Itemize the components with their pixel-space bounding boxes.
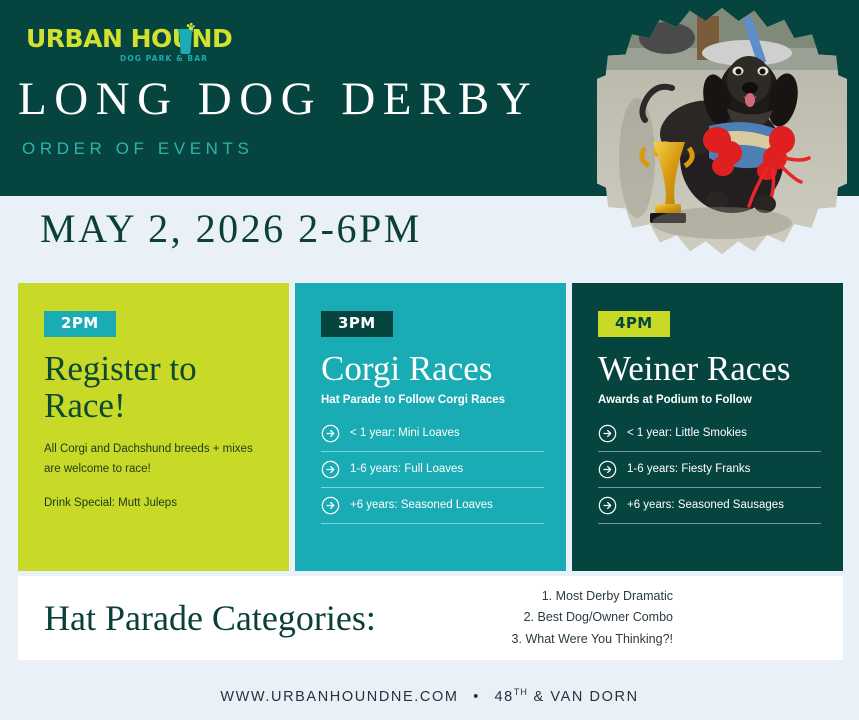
footer-address-number: 48 <box>495 689 514 705</box>
time-badge-2pm: 2PM <box>44 311 116 337</box>
list-item: +6 years: Seasoned Sausages <box>598 492 821 523</box>
event-title-2pm: Register to Race! <box>44 351 267 425</box>
circle-arrow-right-icon <box>598 424 617 443</box>
event-card-4pm[interactable]: 4PM Weiner Races Awards at Podium to Fol… <box>572 283 843 571</box>
footer-address-street: & VAN DORN <box>528 689 639 705</box>
divider <box>321 487 544 488</box>
event-card-3pm[interactable]: 3PM Corgi Races Hat Parade to Follow Cor… <box>295 283 566 571</box>
dachshund-with-trophy-photo <box>597 8 847 260</box>
hat-parade-item: 1. Most Derby Dramatic <box>512 586 673 608</box>
list-item: < 1 year: Mini Loaves <box>321 420 544 451</box>
event-list-3pm: < 1 year: Mini Loaves 1-6 years: Full Lo… <box>321 420 544 524</box>
hat-parade-title: Hat Parade Categories: <box>44 597 376 639</box>
page-subtitle: ORDER OF EVENTS <box>22 139 253 159</box>
hat-parade-list: 1. Most Derby Dramatic 2. Best Dog/Owner… <box>512 586 673 651</box>
time-badge-4pm: 4PM <box>598 311 670 337</box>
event-subtitle-4pm: Awards at Podium to Follow <box>598 394 821 406</box>
divider <box>598 451 821 452</box>
circle-arrow-right-icon <box>321 496 340 515</box>
list-item-label: 1-6 years: Fiesty Franks <box>627 463 750 475</box>
event-cards: 2PM Register to Race! All Corgi and Dach… <box>18 283 843 571</box>
brand-logo[interactable]: URBAN HOUND DOG PARK & BAR <box>26 26 226 70</box>
list-item: 1-6 years: Full Loaves <box>321 456 544 487</box>
event-subtitle-3pm: Hat Parade to Follow Corgi Races <box>321 394 544 406</box>
divider <box>598 523 821 524</box>
footer-address-ordinal: TH <box>514 687 528 697</box>
event-title-4pm: Weiner Races <box>598 351 821 388</box>
event-date: MAY 2, 2026 2-6PM <box>40 205 422 252</box>
brand-logo-wordmark: URBAN HOUND <box>26 26 226 51</box>
page-title: LONG DOG DERBY <box>18 72 538 126</box>
list-item-label: < 1 year: Little Smokies <box>627 427 747 439</box>
drink-cup-icon <box>174 22 196 54</box>
footer-separator: • <box>473 689 480 705</box>
event-list-4pm: < 1 year: Little Smokies 1-6 years: Fies… <box>598 420 821 524</box>
circle-arrow-right-icon <box>321 460 340 479</box>
event-drink-special-2pm: Drink Special: Mutt Juleps <box>44 497 267 509</box>
list-item: 1-6 years: Fiesty Franks <box>598 456 821 487</box>
circle-arrow-right-icon <box>598 460 617 479</box>
divider <box>598 487 821 488</box>
hat-parade-item: 2. Best Dog/Owner Combo <box>512 607 673 629</box>
list-item: < 1 year: Little Smokies <box>598 420 821 451</box>
list-item-label: 1-6 years: Full Loaves <box>350 463 463 475</box>
list-item: +6 years: Seasoned Loaves <box>321 492 544 523</box>
circle-arrow-right-icon <box>321 424 340 443</box>
event-note-2pm: All Corgi and Dachshund breeds + mixes a… <box>44 439 267 479</box>
hat-parade-panel: Hat Parade Categories: 1. Most Derby Dra… <box>18 576 843 660</box>
hero-photo <box>597 8 847 260</box>
footer-bar: WWW.URBANHOUNDNE.COM • 48TH & VAN DORN <box>0 672 859 720</box>
list-item-label: +6 years: Seasoned Loaves <box>350 499 493 511</box>
footer-website[interactable]: WWW.URBANHOUNDNE.COM <box>220 689 458 705</box>
footer-contact: WWW.URBANHOUNDNE.COM • 48TH & VAN DORN <box>220 687 638 705</box>
list-item-label: +6 years: Seasoned Sausages <box>627 499 784 511</box>
circle-arrow-right-icon <box>598 496 617 515</box>
event-card-2pm[interactable]: 2PM Register to Race! All Corgi and Dach… <box>18 283 289 571</box>
time-badge-3pm: 3PM <box>321 311 393 337</box>
event-title-3pm: Corgi Races <box>321 351 544 388</box>
divider <box>321 451 544 452</box>
list-item-label: < 1 year: Mini Loaves <box>350 427 460 439</box>
brand-logo-tagline: DOG PARK & BAR <box>26 54 226 63</box>
divider <box>321 523 544 524</box>
hat-parade-item: 3. What Were You Thinking?! <box>512 629 673 651</box>
